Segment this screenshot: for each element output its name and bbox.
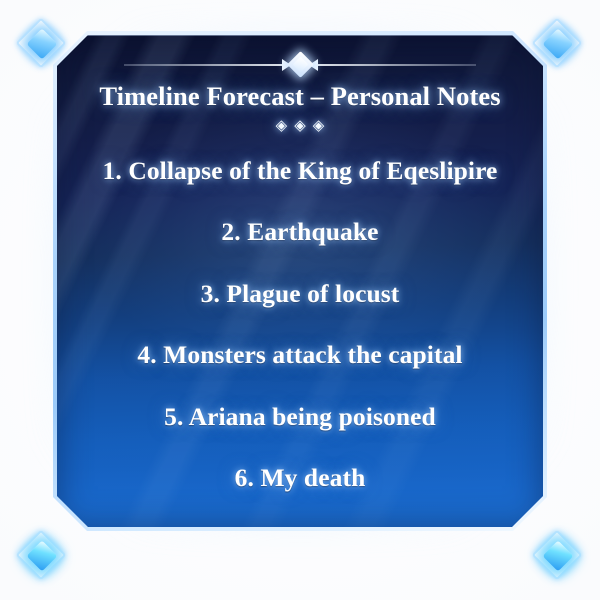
page-title: Timeline Forecast – Personal Notes <box>99 81 500 112</box>
forecast-list: 1. Collapse of the King of Eqeslipire 2.… <box>75 134 525 509</box>
list-item: 3. Plague of locust <box>75 279 525 309</box>
divider-line-right <box>306 64 476 66</box>
header-divider <box>124 53 476 75</box>
corner-halo <box>18 532 66 580</box>
screen: Timeline Forecast – Personal Notes ◈ ◈ ◈… <box>0 0 600 600</box>
corner-diamond-bottom-left-icon <box>16 530 68 582</box>
corner-core <box>542 28 573 59</box>
list-item: 5. Ariana being poisoned <box>75 402 525 432</box>
divider-line-left <box>124 64 294 66</box>
corner-core <box>26 28 57 59</box>
list-item: 4. Monsters attack the capital <box>75 340 525 370</box>
diamond-ornament-icon-3: ◈ <box>313 119 325 134</box>
diamond-ornament-icon-2: ◈ <box>294 119 306 134</box>
corner-core <box>542 540 573 571</box>
section-ornament: ◈ ◈ ◈ <box>276 119 325 134</box>
list-item: 1. Collapse of the King of Eqeslipire <box>75 156 525 186</box>
corner-diamond-bottom-right-icon <box>532 530 584 582</box>
corner-ring <box>16 530 67 581</box>
list-item: 2. Earthquake <box>75 217 525 247</box>
corner-halo <box>534 532 582 580</box>
list-item: 6. My death <box>75 463 525 493</box>
corner-ring <box>532 530 583 581</box>
corner-core <box>26 540 57 571</box>
panel-content: Timeline Forecast – Personal Notes ◈ ◈ ◈… <box>57 35 543 527</box>
diamond-gem-icon <box>287 51 314 78</box>
notes-panel: Timeline Forecast – Personal Notes ◈ ◈ ◈… <box>57 35 543 527</box>
diamond-ornament-icon-1: ◈ <box>276 119 288 134</box>
